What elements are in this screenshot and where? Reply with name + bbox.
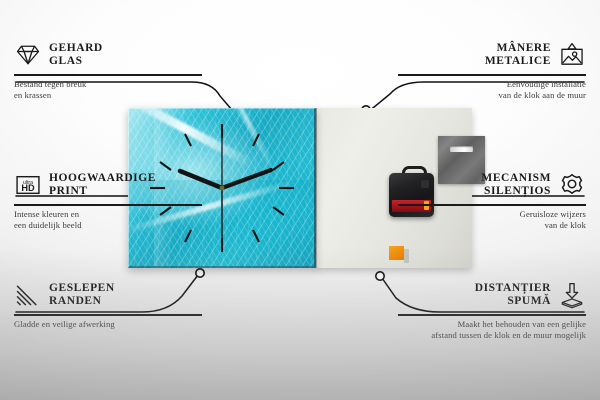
feature-subtitle-line1: Gladde en veilige afwerking [14, 319, 202, 330]
gear-icon [558, 171, 586, 199]
feature-subtitle-line1: Bestand tegen breuk [14, 79, 202, 90]
feature-subtitle-line1: Geruisloze wijzers [398, 209, 586, 220]
feature-gehard-glas: GEHARD GLAS Bestand tegen breuk en krass… [14, 38, 202, 101]
feature-subtitle-line1: Eenvoudige installatie [398, 79, 586, 90]
bevelled-edges-icon [14, 281, 42, 309]
feature-subtitle-line2: afstand tussen de klok en de muur mogeli… [398, 330, 586, 341]
feature-title: HOOGWAARDIGE PRINT [49, 172, 156, 199]
ultra-hd-icon: ultra HD [14, 171, 42, 199]
feature-title: GEHARD GLAS [49, 42, 103, 69]
feature-header: GEHARD GLAS [14, 38, 202, 72]
hanger-slot [450, 146, 473, 152]
feature-mecanism-silentios: MECANISM SILENȚIOS Geruisloze wijzers va… [398, 168, 586, 231]
spacer-arrow-icon [558, 281, 586, 309]
feature-header: MECANISM SILENȚIOS [398, 168, 586, 202]
feature-hoogwaardige-print: ultra HD HOOGWAARDIGE PRINT Intense kleu… [14, 168, 202, 231]
infographic-canvas: GEHARD GLAS Bestand tegen breuk en krass… [0, 0, 600, 400]
feature-geslepen-randen: GESLEPEN RANDEN Gladde en veilige afwerk… [14, 278, 202, 330]
picture-hanger-icon [558, 41, 586, 69]
connector-endpoint-geslepen-randen [196, 269, 204, 277]
feature-distantier-spuma: DISTANȚIER SPUMĂ Maakt het behouden van … [398, 278, 586, 341]
feature-rule [14, 204, 202, 206]
connector-endpoint-distantier-spuma [376, 272, 384, 280]
feature-header: MÂNERE METALICE [398, 38, 586, 72]
feature-header: DISTANȚIER SPUMĂ [398, 278, 586, 312]
feature-rule [398, 314, 586, 316]
feature-subtitle-line2: van de klok aan de muur [398, 90, 586, 101]
feature-header: GESLEPEN RANDEN [14, 278, 202, 312]
feature-subtitle-line2: een duidelijk beeld [14, 220, 202, 231]
feature-title: GESLEPEN RANDEN [49, 282, 115, 309]
feature-rule [14, 314, 202, 316]
feature-rule [398, 74, 586, 76]
foam-spacer [389, 246, 404, 260]
feature-title: DISTANȚIER SPUMĂ [475, 282, 551, 309]
diamond-icon [14, 41, 42, 69]
feature-subtitle-line1: Maakt het behouden van een gelijke [398, 319, 586, 330]
feature-manere-metalice: MÂNERE METALICE Eenvoudige installatie v… [398, 38, 586, 101]
feature-subtitle-line2: van de klok [398, 220, 586, 231]
feature-subtitle-line1: Intense kleuren en [14, 209, 202, 220]
ultra-hd-icon-label-bottom: HD [21, 183, 35, 193]
feature-title: MÂNERE METALICE [485, 42, 551, 69]
feature-header: ultra HD HOOGWAARDIGE PRINT [14, 168, 202, 202]
feature-subtitle-line2: en krassen [14, 90, 202, 101]
feature-rule [14, 74, 202, 76]
feature-title: MECANISM SILENȚIOS [481, 172, 551, 199]
feature-rule [398, 204, 586, 206]
